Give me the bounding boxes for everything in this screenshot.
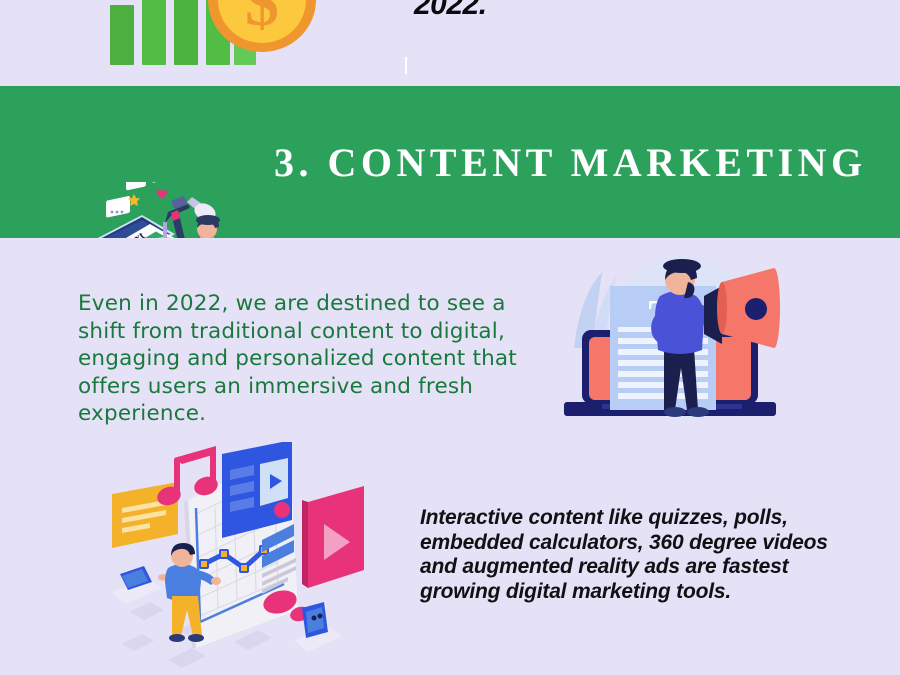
content-writing-laptop-illustration: Text — [72, 182, 252, 238]
play-card — [302, 486, 364, 588]
person-writer-illustration — [180, 215, 222, 238]
infographic-page: $ 2022. — [0, 0, 900, 675]
bar-chart-bar — [110, 5, 134, 65]
dollar-sign-glyph: $ — [218, 0, 306, 45]
bar-chart-bar — [174, 0, 198, 65]
top-year-text: 2022. — [414, 0, 487, 22]
text-cursor-caret[interactable] — [405, 57, 407, 74]
black-body-paragraph: Interactive content like quizzes, polls,… — [420, 506, 830, 604]
green-body-paragraph: Even in 2022, we are destined to see a s… — [78, 290, 518, 428]
bar-chart-bar — [142, 0, 166, 65]
interactive-content-analytics-illustration — [112, 442, 374, 675]
device-left — [112, 566, 162, 604]
section-title: 3. CONTENT MARKETING — [274, 86, 874, 238]
coin-inner-face: $ — [218, 0, 306, 43]
top-strip-section: $ 2022. — [0, 0, 900, 86]
section-banner: Text — [0, 86, 900, 238]
megaphone-newspaper-illustration: T — [556, 252, 784, 444]
dollar-coin-icon: $ — [208, 0, 316, 52]
floating-bubbles — [106, 182, 172, 218]
